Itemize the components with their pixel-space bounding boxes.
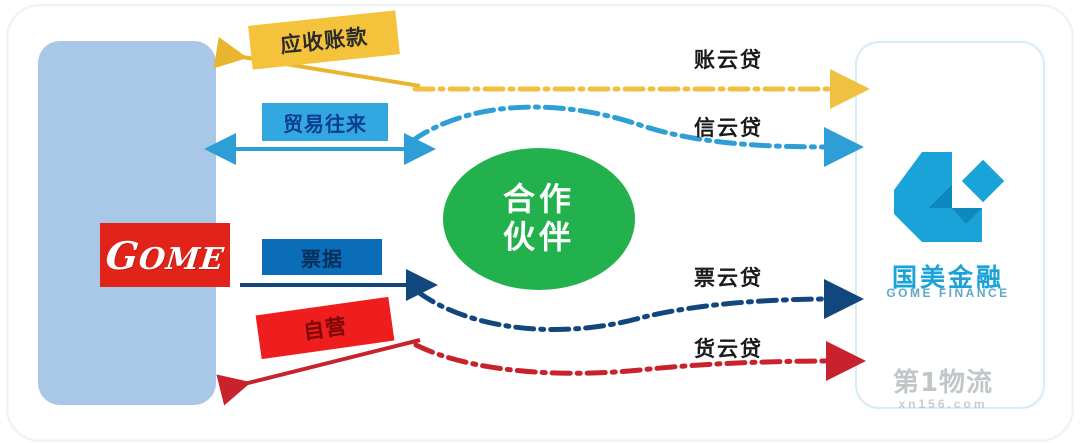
diagram-canvas: GOME 合作 伙伴 国美金融 GOME FINANCE [0, 0, 1080, 443]
loan-label-xin: 信云贷 [694, 112, 763, 142]
watermark-cn: 第1物流 [868, 362, 1018, 399]
loan-label-piao: 票云贷 [694, 262, 763, 292]
watermark: 第1物流 xn156.com [868, 362, 1018, 414]
watermark-url: xn156.com [868, 397, 1018, 411]
loan-line-xin [412, 107, 834, 147]
loan-line-piao [418, 292, 834, 330]
loan-line-huo [416, 345, 836, 373]
flow-tag-bill: 票据 [262, 239, 382, 275]
loan-label-huo: 货云贷 [694, 333, 763, 363]
loan-label-zhang: 账云贷 [694, 44, 763, 74]
flow-tag-trade: 贸易往来 [262, 103, 388, 141]
